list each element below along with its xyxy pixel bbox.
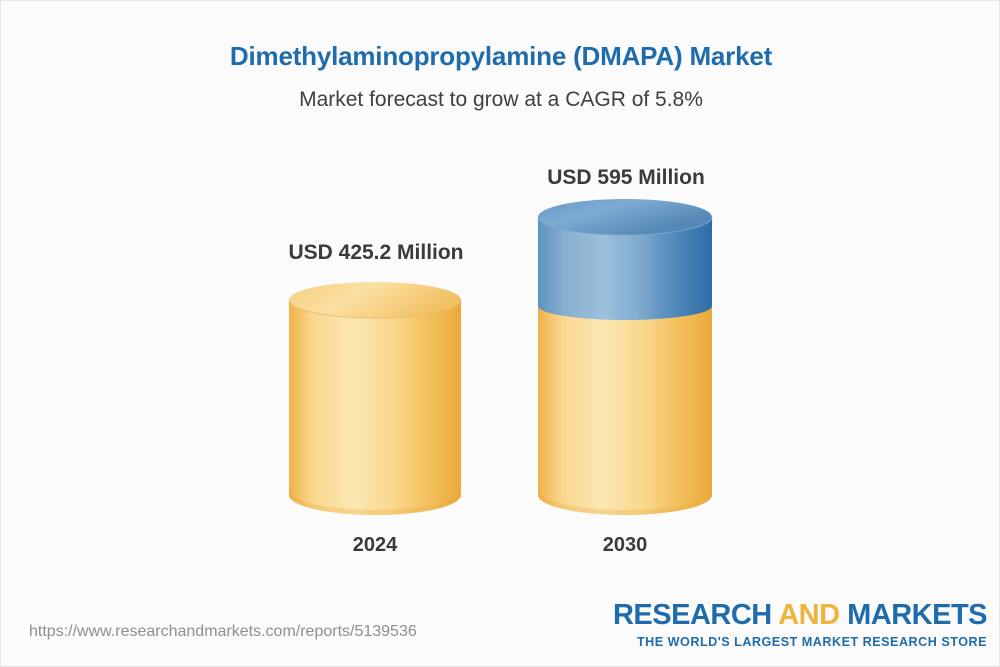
bar-cylinder-2024 xyxy=(289,282,461,516)
logo-markets-text: MARKETS xyxy=(847,599,987,631)
value-label-2030: USD 595 Million xyxy=(516,166,736,190)
logo-and-text: AND xyxy=(778,599,847,631)
logo-tagline: THE WORLD'S LARGEST MARKET RESEARCH STOR… xyxy=(613,636,987,649)
chart-canvas: Dimethylaminopropylamine (DMAPA) Market … xyxy=(0,0,1000,667)
value-label-2024: USD 425.2 Million xyxy=(266,241,486,265)
plot-area: USD 425.2 Million xyxy=(1,1,1000,601)
brand-logo: RESEARCH AND MARKETS THE WORLD'S LARGEST… xyxy=(613,601,987,649)
category-label-2030: 2030 xyxy=(525,534,725,557)
bar-cylinder-2030 xyxy=(538,199,712,516)
category-label-2024: 2024 xyxy=(275,534,475,557)
logo-wordmark: RESEARCH AND MARKETS xyxy=(613,601,987,630)
report-url[interactable]: https://www.researchandmarkets.com/repor… xyxy=(29,623,417,641)
logo-research-text: RESEARCH xyxy=(613,599,778,631)
